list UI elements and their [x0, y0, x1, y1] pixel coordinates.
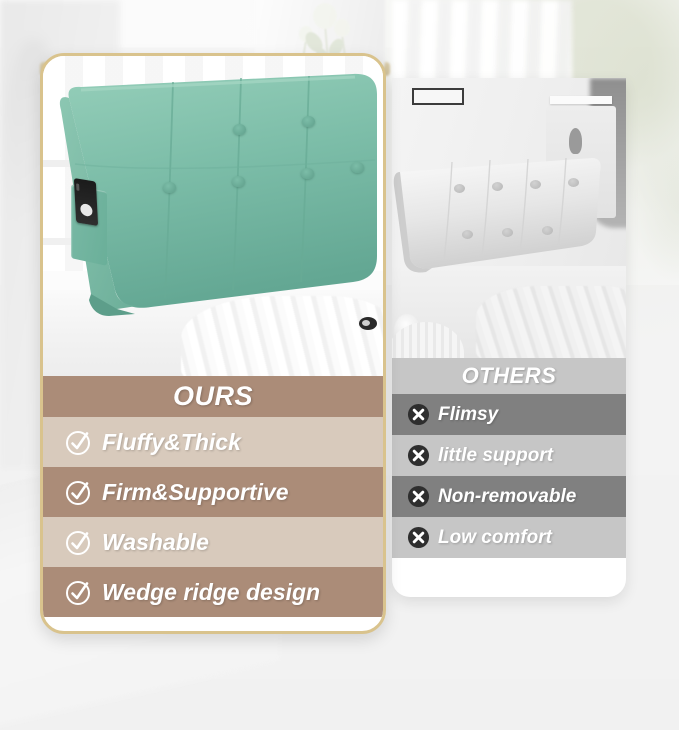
phone-in-pocket [74, 178, 98, 226]
others-feature-list: Flimsy little support Non-removable [392, 394, 626, 558]
ours-feature-row: Wedge ridge design [43, 567, 383, 617]
others-pillow-tuft [568, 178, 579, 187]
ours-header-label: OURS [43, 376, 383, 417]
pillow-tuft-button [232, 176, 245, 187]
others-feature-label: Low comfort [438, 527, 552, 549]
others-photo-throw-blanket [476, 286, 626, 358]
ours-comparison-card: OURS Fluffy&Thick Firm&Supportive [40, 53, 386, 634]
check-circle-icon [64, 478, 92, 506]
x-circle-icon [407, 526, 430, 549]
ours-photo-duvet [181, 296, 383, 376]
others-feature-row: Flimsy [392, 394, 626, 435]
ours-feature-label: Wedge ridge design [102, 579, 320, 606]
ours-feature-list: Fluffy&Thick Firm&Supportive Washable [43, 417, 383, 617]
others-feature-row: little support [392, 435, 626, 476]
others-product-pillow [392, 156, 606, 278]
others-pillow-tuft [542, 226, 553, 235]
x-circle-icon [407, 444, 430, 467]
others-feature-label: Non-removable [438, 486, 576, 508]
x-circle-icon [407, 403, 430, 426]
others-photo-vase [569, 128, 582, 154]
others-pillow-tuft [492, 182, 503, 191]
check-circle-icon [64, 578, 92, 606]
ours-feature-row: Washable [43, 517, 383, 567]
ours-product-pillow [55, 68, 383, 330]
others-feature-row: Non-removable [392, 476, 626, 517]
ours-feature-row: Fluffy&Thick [43, 417, 383, 467]
others-photo-shelf [550, 96, 612, 104]
ours-feature-label: Firm&Supportive [102, 479, 289, 506]
x-circle-icon [407, 485, 430, 508]
pillow-tuft-button [301, 168, 314, 179]
pillow-tuft-button [163, 182, 176, 193]
ours-feature-row: Firm&Supportive [43, 467, 383, 517]
pillow-tuft-button [233, 124, 246, 135]
others-pillow-tuft [454, 184, 465, 193]
others-header-label: OTHERS [392, 358, 626, 394]
others-feature-label: Flimsy [438, 404, 498, 426]
others-comparison-card: OTHERS Flimsy little support [392, 78, 626, 597]
ours-feature-label: Fluffy&Thick [102, 429, 241, 456]
others-feature-label: little support [438, 445, 553, 467]
check-circle-icon [64, 428, 92, 456]
others-pillow-tuft [462, 230, 473, 239]
ours-feature-label: Washable [102, 529, 209, 556]
ours-photo-bed-knob [359, 317, 377, 330]
others-feature-row: Low comfort [392, 517, 626, 558]
check-circle-icon [64, 528, 92, 556]
others-photo-wall-frame [412, 88, 464, 105]
others-pillow-tuft [530, 180, 541, 189]
ours-product-photo [43, 56, 383, 376]
pillow-tuft-button [302, 116, 315, 127]
others-product-photo [392, 78, 626, 358]
pillow-tuft-button [351, 162, 364, 173]
others-pillow-tuft [502, 228, 513, 237]
